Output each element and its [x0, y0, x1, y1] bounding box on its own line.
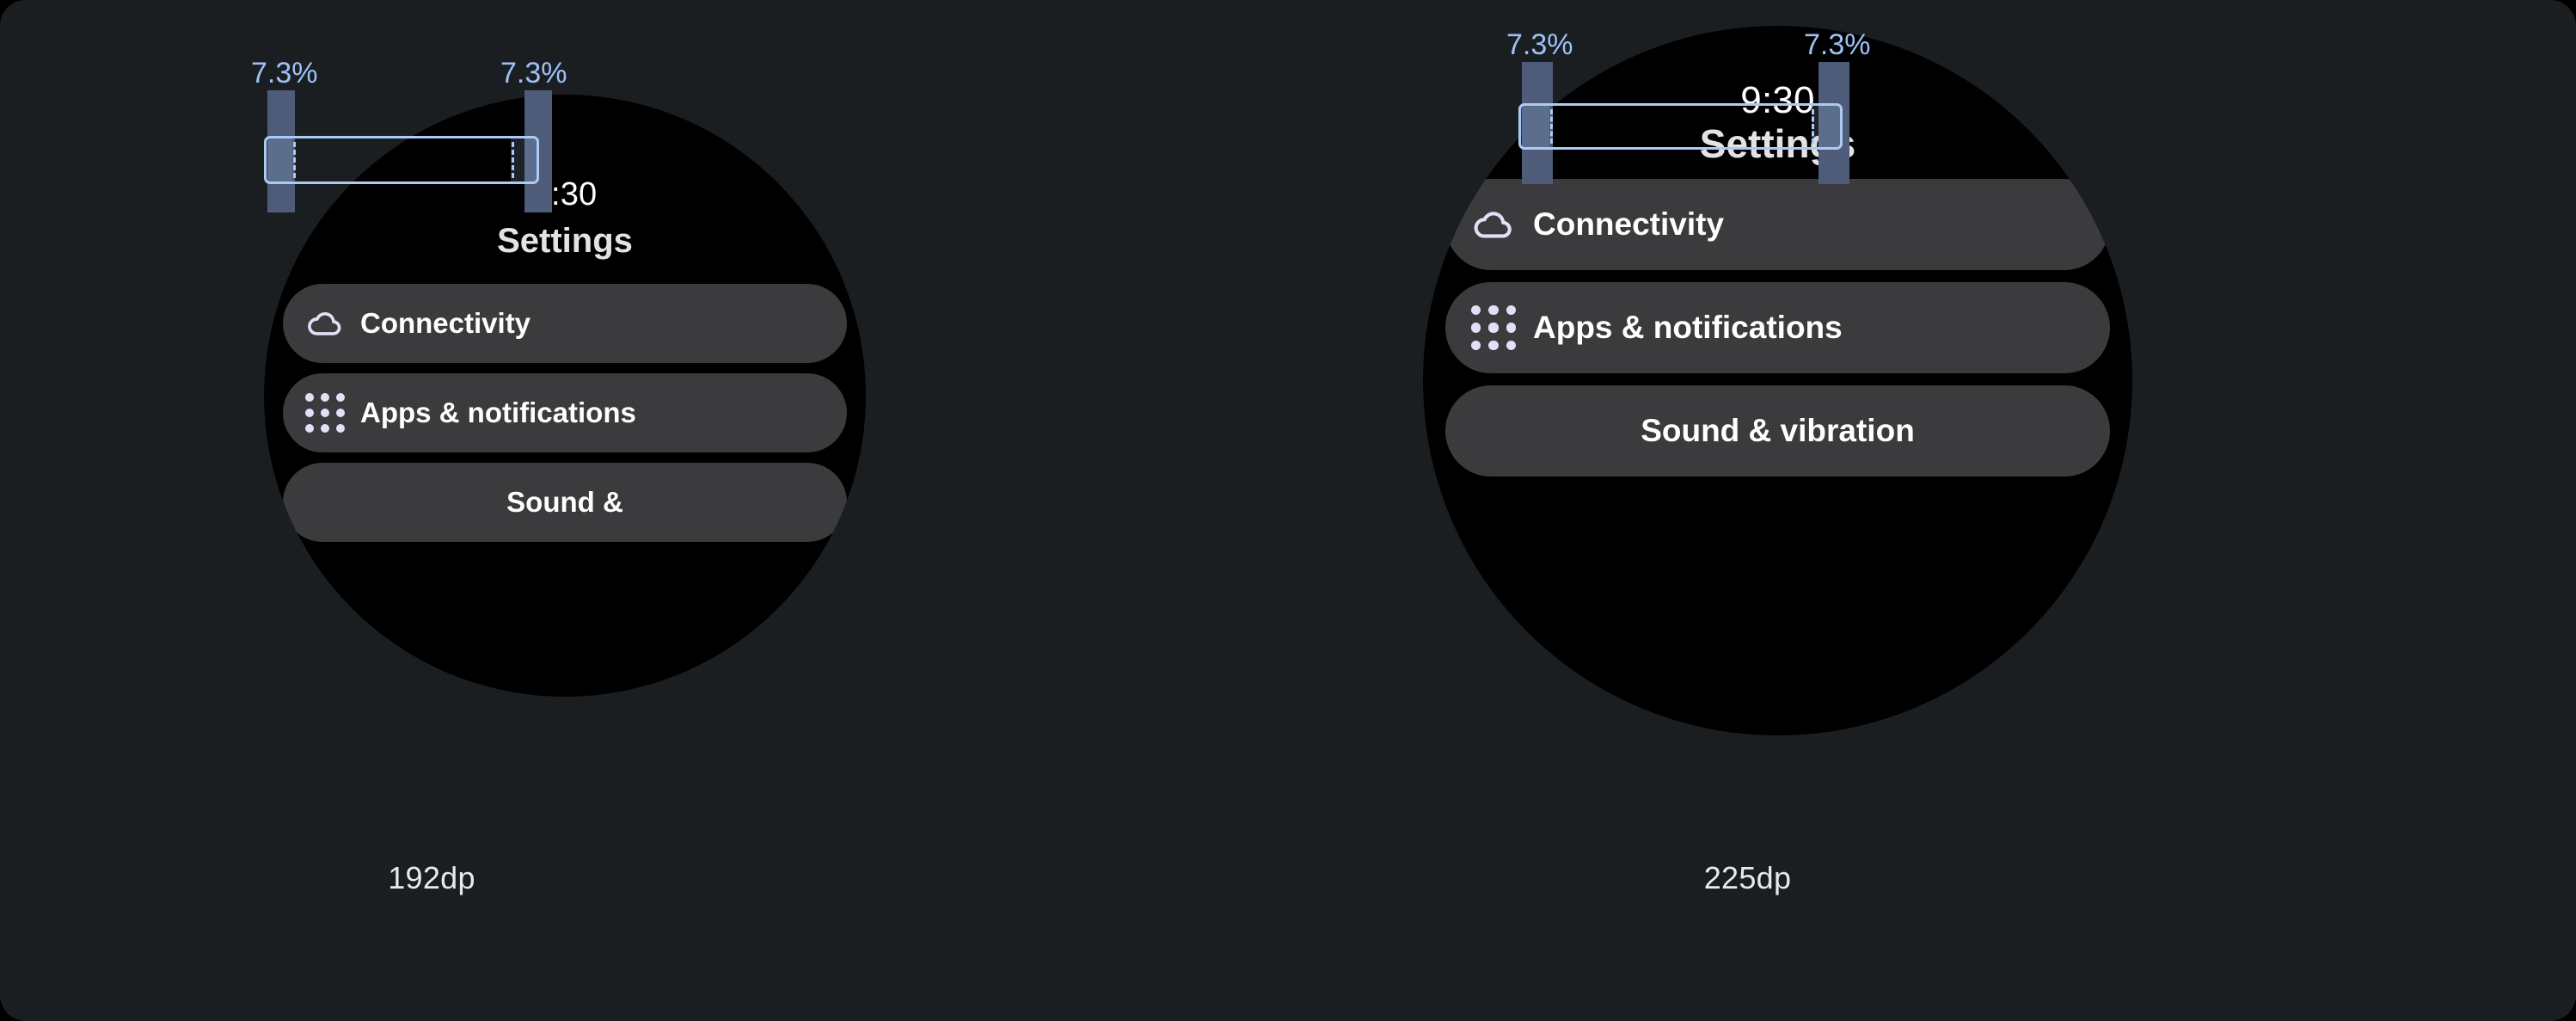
apps-grid-icon	[1471, 305, 1516, 350]
watch-screen-192dp: 9:30 Settings Connectivity	[264, 95, 866, 697]
settings-list: Connectivity Apps & notifications Sound …	[264, 284, 866, 552]
margin-label-left: 7.3%	[251, 57, 318, 90]
margin-bar-right	[1819, 62, 1849, 184]
list-item-label: Sound &	[506, 486, 623, 520]
apps-grid-icon	[305, 393, 345, 433]
margin-label-left: 7.3%	[1506, 28, 1573, 62]
settings-list: Connectivity Apps & notifications Sound …	[1423, 179, 2132, 489]
cloud-icon	[305, 304, 345, 343]
size-caption-192dp: 192dp	[225, 860, 638, 896]
list-item-apps-notifications[interactable]: Apps & notifications	[1445, 282, 2110, 373]
list-item-connectivity[interactable]: Connectivity	[283, 284, 847, 363]
list-item-label: Connectivity	[360, 307, 531, 341]
list-item-label: Sound & vibration	[1641, 412, 1915, 450]
page-title: Settings	[264, 222, 866, 261]
margin-bar-right	[524, 90, 552, 212]
margin-label-right: 7.3%	[500, 57, 567, 90]
list-item-label: Apps & notifications	[360, 397, 636, 430]
margin-bar-left	[267, 90, 295, 212]
spec-canvas: 9:30 Settings Connectivity	[0, 0, 2576, 1021]
watch-screen-content: 9:30 Settings Connectivity	[264, 95, 866, 697]
size-caption-225dp: 225dp	[1513, 860, 1982, 896]
watch-figure-192dp: 9:30 Settings Connectivity	[225, 0, 638, 1021]
list-item-sound-vibration[interactable]: Sound &	[283, 463, 847, 542]
cloud-icon	[1471, 202, 1516, 247]
margin-label-right: 7.3%	[1804, 28, 1871, 62]
list-item-connectivity[interactable]: Connectivity	[1445, 179, 2110, 270]
list-item-label: Apps & notifications	[1533, 309, 1843, 347]
list-item-label: Connectivity	[1533, 206, 1724, 243]
list-item-apps-notifications[interactable]: Apps & notifications	[283, 373, 847, 452]
status-time: 9:30	[264, 176, 866, 213]
margin-bar-left	[1522, 62, 1553, 184]
list-item-sound-vibration[interactable]: Sound & vibration	[1445, 385, 2110, 477]
watch-figure-225dp: 9:30 Settings Connectivity	[1513, 0, 1982, 1021]
